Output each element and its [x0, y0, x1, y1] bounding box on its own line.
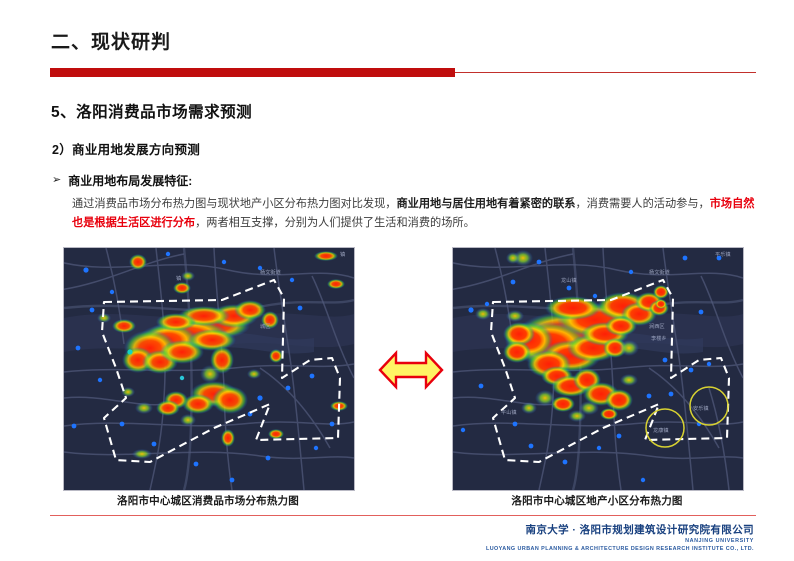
bullet-heading: ➢ 商业用地布局发展特征:: [52, 172, 192, 189]
svg-text:涧西区: 涧西区: [649, 322, 665, 330]
header-rule-thick: [50, 68, 455, 77]
section-title: 二、现状研判: [51, 27, 171, 54]
body-paragraph: 通过消费品市场分布热力图与现状地产小区分布热力图对比发现，商业用地与居住用地有着…: [72, 195, 762, 233]
svg-text:龙康镇: 龙康镇: [653, 426, 669, 434]
paragraph-bold-1: 商业用地与居住用地有着紧密的联系: [396, 198, 575, 210]
svg-text:李楼乡: 李楼乡: [651, 334, 667, 342]
svg-text:镇: 镇: [176, 274, 181, 282]
svg-text:镇: 镇: [340, 250, 345, 258]
residential-heatmap-canvas: 杨文街道 平乐镇 龙山镇 涧西区 李楼乡 安乐镇 龙康镇 平山镇: [453, 248, 743, 490]
arrow-bullet-icon: ➢: [52, 175, 61, 186]
svg-text:平乐镇: 平乐镇: [715, 250, 731, 258]
paragraph-part-2: ，消费需要人的活动参与，: [575, 198, 709, 210]
slide-canvas: 二、现状研判 5、洛阳消费品市场需求预测 2）商业用地发展方向预测 ➢ 商业用地…: [0, 0, 794, 561]
svg-text:城区: 城区: [260, 323, 270, 330]
double-headed-arrow-icon: [378, 345, 444, 395]
figure-caption-right: 洛阳市中心城区地产小区分布热力图: [452, 493, 742, 508]
footer-university-en: NANJING UNIVERSITY: [486, 537, 754, 545]
heading-level-1: 5、洛阳消费品市场需求预测: [51, 100, 252, 122]
svg-text:龙山镇: 龙山镇: [561, 276, 577, 284]
svg-text:平山镇: 平山镇: [501, 408, 517, 416]
paragraph-part-3: ，两者相互支撑，分别为人们提供了生活和消费的场所。: [195, 217, 475, 229]
footer-institute-en: LUOYANG URBAN PLANNING & ARCHITECTURE DE…: [486, 545, 754, 553]
footer-company-cn: 南京大学 · 洛阳市规划建筑设计研究院有限公司: [486, 524, 754, 537]
consumer-goods-heatmap-canvas: 杨文街道 城区 镇 镇: [64, 248, 354, 490]
svg-text:安乐镇: 安乐镇: [693, 404, 709, 412]
svg-text:杨文街道: 杨文街道: [260, 268, 281, 276]
footer-rule: [50, 515, 756, 516]
comparison-arrow: [378, 345, 444, 395]
paragraph-part-1: 通过消费品市场分布热力图与现状地产小区分布热力图对比发现，: [72, 198, 396, 210]
figure-residential-heatmap[interactable]: 杨文街道 平乐镇 龙山镇 涧西区 李楼乡 安乐镇 龙康镇 平山镇: [452, 247, 744, 491]
footer-logo-block: 南京大学 · 洛阳市规划建筑设计研究院有限公司 NANJING UNIVERSI…: [486, 524, 754, 553]
bullet-heading-label: 商业用地布局发展特征:: [68, 172, 192, 189]
heading-level-2: 2）商业用地发展方向预测: [52, 139, 200, 158]
figure-caption-left: 洛阳市中心城区消费品市场分布热力图: [63, 493, 353, 508]
svg-text:杨文街道: 杨文街道: [649, 268, 670, 276]
figure-consumer-goods-heatmap[interactable]: 杨文街道 城区 镇 镇: [63, 247, 355, 491]
